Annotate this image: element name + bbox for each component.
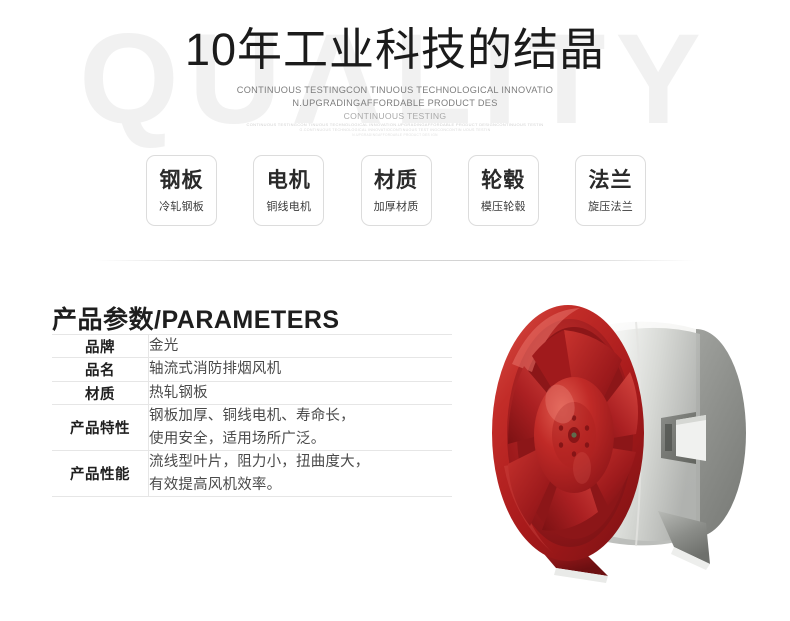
param-label: 材质	[52, 381, 149, 404]
feature-badge-material: 材质 加厚材质	[361, 155, 432, 226]
feature-badge-title: 电机	[267, 169, 311, 194]
table-row: 品名 轴流式消防排烟风机	[52, 358, 452, 381]
param-value-line: 钢板加厚、铜线电机、寿命长，	[149, 405, 452, 427]
param-value: 钢板加厚、铜线电机、寿命长， 使用安全，适用场所广泛。	[149, 405, 453, 451]
feature-badge-subtitle: 加厚材质	[374, 198, 419, 214]
hero-subtitle-line-4: CONTINUOUS TESTINGCON TINUOUS TECHNOLOGI…	[0, 122, 790, 127]
param-value-line: 热轧钢板	[149, 382, 452, 404]
feature-badge-steel-plate: 钢板 冷轧钢板	[146, 155, 217, 226]
param-value: 热轧钢板	[149, 381, 453, 404]
motor-junction-box	[661, 412, 706, 464]
product-photo-axial-fan	[460, 268, 790, 598]
param-label: 产品特性	[52, 405, 149, 451]
feature-badge-title: 材质	[374, 169, 418, 194]
page-title: 产品参数/PARAMETERS	[52, 300, 340, 336]
parameters-table: 品牌 金光 品名 轴流式消防排烟风机 材质 热轧钢板 产品特性	[52, 334, 452, 497]
param-value: 流线型叶片，阻力小，扭曲度大， 有效提高风机效率。	[149, 451, 453, 497]
feature-badge-subtitle: 冷轧钢板	[159, 198, 204, 214]
hero-banner: QUALITY 10年工业科技的结晶 CONTINUOUS TESTINGCON…	[0, 0, 790, 262]
section-divider	[95, 260, 695, 261]
feature-badge-motor: 电机 铜线电机	[253, 155, 324, 226]
feature-badge-hub: 轮毂 模压轮毂	[468, 155, 539, 226]
param-value-line: 轴流式消防排烟风机	[149, 358, 452, 380]
feature-badge-subtitle: 模压轮毂	[481, 198, 526, 214]
hero-subtitle-line-2: N.UPGRADINGAFFORDABLE PRODUCT DES	[0, 98, 790, 108]
feature-badge-flange: 法兰 旋压法兰	[575, 155, 646, 226]
param-value-line: 有效提高风机效率。	[149, 474, 452, 496]
feature-badge-row: 钢板 冷轧钢板 电机 铜线电机 材质 加厚材质 轮毂 模压轮毂 法兰 旋压法兰	[146, 155, 646, 229]
param-value: 金光	[149, 335, 453, 358]
feature-badge-title: 轮毂	[481, 169, 525, 194]
table-row: 产品特性 钢板加厚、铜线电机、寿命长， 使用安全，适用场所广泛。	[52, 405, 452, 451]
table-row: 品牌 金光	[52, 335, 452, 358]
feature-badge-subtitle: 旋压法兰	[588, 198, 633, 214]
param-value-line: 金光	[149, 335, 452, 357]
param-label: 品名	[52, 358, 149, 381]
table-row: 产品性能 流线型叶片，阻力小，扭曲度大， 有效提高风机效率。	[52, 451, 452, 497]
feature-badge-title: 钢板	[160, 169, 204, 194]
param-value: 轴流式消防排烟风机	[149, 358, 453, 381]
param-label: 品牌	[52, 335, 149, 358]
feature-badge-subtitle: 铜线电机	[266, 198, 311, 214]
hero-subtitle-line-1: CONTINUOUS TESTINGCON TINUOUS TECHNOLOGI…	[0, 85, 790, 95]
table-row: 材质 热轧钢板	[52, 381, 452, 404]
param-value-line: 使用安全，适用场所广泛。	[149, 428, 452, 450]
param-value-line: 流线型叶片，阻力小，扭曲度大，	[149, 451, 452, 473]
hero-subtitle-line-3: CONTINUOUS TESTING	[0, 111, 790, 121]
feature-badge-title: 法兰	[589, 169, 633, 194]
fan-hub	[534, 377, 614, 493]
product-parameters-section: 产品参数/PARAMETERS 品牌 金光 品名 轴流式消防排烟风机 材质 热轧…	[0, 262, 790, 621]
hero-title: 10年工业科技的结晶	[0, 22, 790, 78]
hero-subtitle-line-6: N.UPGRADINGAFFORDABLE PRODUCT DES IGN	[0, 133, 790, 137]
param-label: 产品性能	[52, 451, 149, 497]
hero-subtitle-line-5: G.CONTINUOUS TECHNOLOGICAL INNOVATIOCONT…	[0, 128, 790, 132]
